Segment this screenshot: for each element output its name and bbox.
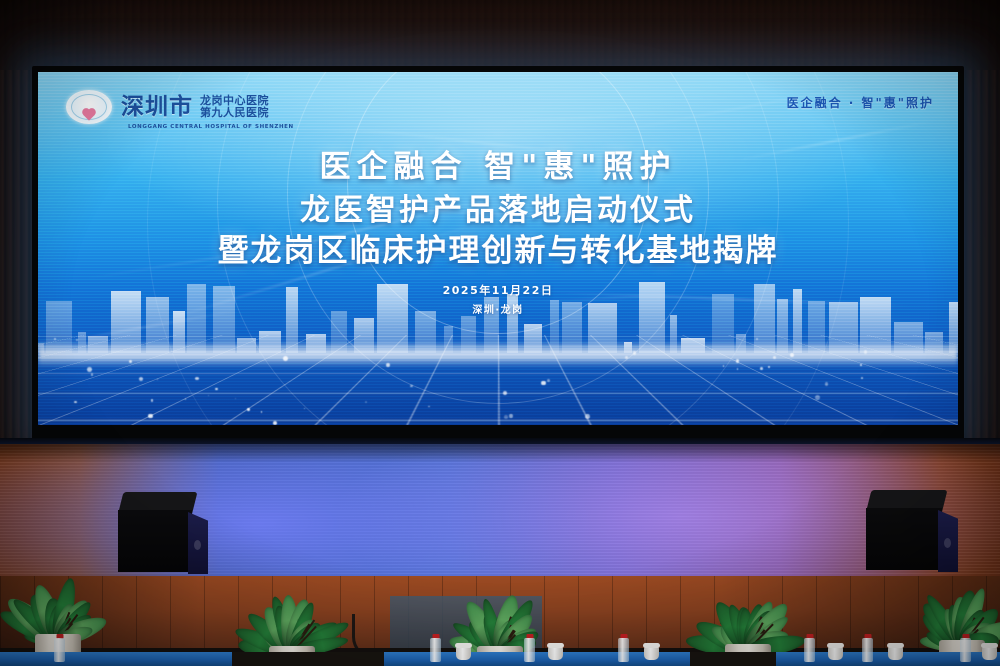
slide-title-line-1: 医企融合 智"惠"照护	[38, 150, 958, 186]
slide-title-line-2: 龙医智护产品落地启动仪式	[38, 194, 958, 229]
logo-sub-line-2: 第九人民医院	[200, 107, 269, 119]
hospital-logo: 深圳市 龙岗中心医院 第九人民医院 LONGGANG CENTRAL HOSPI…	[66, 90, 269, 124]
slide-event-place: 深圳·龙岗	[38, 301, 958, 316]
front-table-skirt	[0, 652, 1000, 666]
slide-meta-block: 2025年11月22日 深圳·龙岗	[38, 282, 958, 316]
plant-foliage	[688, 576, 808, 650]
slide-title-block: 医企融合 智"惠"照护 龙医智护产品落地启动仪式 暨龙岗区临床护理创新与转化基地…	[38, 150, 958, 316]
paper-cup	[888, 646, 903, 660]
plant-foliage	[440, 578, 560, 652]
table-gap	[690, 652, 776, 666]
plant-foliage	[232, 578, 352, 652]
auditorium-scene: 深圳市 龙岗中心医院 第九人民医院 LONGGANG CENTRAL HOSPI…	[0, 0, 1000, 666]
slide-slogan-top-right: 医企融合 · 智"惠"照护	[787, 94, 934, 111]
paper-cup	[644, 646, 659, 660]
slide-event-date: 2025年11月22日	[38, 282, 958, 298]
slide-title-line-3: 暨龙岗区临床护理创新与转化基地揭牌	[38, 234, 958, 270]
paper-cup	[456, 646, 471, 660]
paper-cup	[548, 646, 563, 660]
logo-english-text: LONGGANG CENTRAL HOSPITAL OF SHENZHEN	[128, 124, 294, 130]
plant-foliage	[0, 566, 118, 640]
plant-foliage	[902, 572, 1000, 646]
table-gap	[232, 652, 384, 666]
led-screen: 深圳市 龙岗中心医院 第九人民医院 LONGGANG CENTRAL HOSPI…	[38, 72, 958, 425]
hospital-emblem-icon	[66, 90, 112, 124]
paper-cup	[828, 646, 843, 660]
paper-cup	[982, 646, 997, 660]
logo-main-text: 深圳市	[121, 96, 193, 119]
